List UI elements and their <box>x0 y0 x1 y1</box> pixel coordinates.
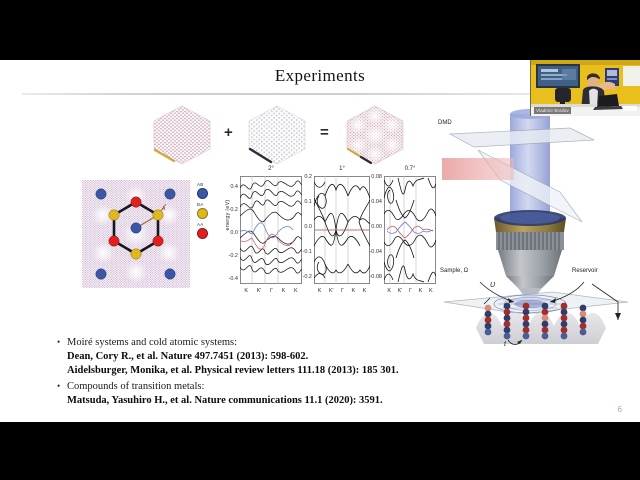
legend-label-ab: AB <box>197 182 203 187</box>
reference-line: Dean, Cory R., et al. Nature 497.7451 (2… <box>56 350 526 364</box>
xtick-0: K <box>387 288 391 294</box>
webcam-video-tile[interactable]: Vladimir Brailov <box>530 60 640 116</box>
legend-label-aa: AA <box>197 222 203 227</box>
xtick-2: Γ <box>341 288 344 294</box>
moire-lattice-panel: A AB BA AA <box>62 172 222 297</box>
band-plot-1deg-title: 1° <box>314 166 370 172</box>
moire-superlattice-result <box>341 104 409 166</box>
band-plot-0p7deg: 0.7° 0.08 0.04 0.00 -0.04 -0.08 <box>384 166 436 298</box>
bullet-list: Moiré systems and cold atomic systems: D… <box>56 336 526 410</box>
participant-name-label: Vladimir Brailov <box>534 107 571 114</box>
xtick-0: K <box>318 288 322 294</box>
title-divider <box>22 93 597 95</box>
moire-lattice-diagram: A <box>82 180 190 288</box>
letterbox-bottom <box>0 422 640 480</box>
band-ytick-2: 0.00 <box>360 224 382 230</box>
legend-label-ba: BA <box>197 202 203 207</box>
band-plot-0p7deg-title: 0.7° <box>384 166 436 172</box>
xtick-0: K <box>244 288 248 294</box>
figure-area: + <box>0 104 640 326</box>
xtick-1: K' <box>257 288 262 294</box>
xtick-2: Γ <box>270 288 273 294</box>
band-plot-1deg-xticks: K K' Γ K K <box>314 288 370 294</box>
band-plot-0p7deg-curves <box>384 176 436 284</box>
band-ytick-0: 0.2 <box>294 174 312 180</box>
legend-swatch-aa <box>197 228 208 239</box>
hexagon-lattice-layer-2 <box>243 104 311 166</box>
bullet-group-1: Compounds of transition metals: Matsuda,… <box>56 380 526 408</box>
legend-swatch-ab <box>197 188 208 199</box>
slide-number: 6 <box>618 405 622 414</box>
band-plot-1deg-curves <box>314 176 370 284</box>
bullet-heading-0: Moiré systems and cold atomic systems: <box>56 336 526 350</box>
band-ytick-0: 0.08 <box>360 174 382 180</box>
u-label: U <box>490 282 495 289</box>
xtick-4: K <box>363 288 367 294</box>
band-ytick-3: -0.2 <box>218 253 238 259</box>
reference-line: Aidelsburger, Monika, et al. Physical re… <box>56 364 526 378</box>
band-plot-2deg: 2° 0.4 0.2 0.0 -0.2 -0.4 <box>240 166 302 298</box>
xtick-1: K' <box>398 288 403 294</box>
xtick-2: Γ <box>409 288 412 294</box>
band-plot-0p7deg-xticks: K K' Γ K K <box>384 288 436 294</box>
band-ytick-0: 0.4 <box>218 184 238 190</box>
band-ytick-2: 0.0 <box>218 230 238 236</box>
reference-line: Matsuda, Yasuhiro H., et al. Nature comm… <box>56 394 526 408</box>
band-plot-2deg-curves <box>240 176 302 284</box>
band-ytick-1: 0.04 <box>360 199 382 205</box>
band-ytick-4: -0.4 <box>218 276 238 282</box>
letterbox-top <box>0 0 640 60</box>
dmd-label: DMD <box>438 120 452 126</box>
band-ytick-2: 0.0 <box>294 224 312 230</box>
sample-label: Sample, Ω <box>440 268 468 274</box>
reservoir-label: Reservoir <box>572 268 598 274</box>
bullet-group-0: Moiré systems and cold atomic systems: D… <box>56 336 526 378</box>
band-ytick-3: -0.04 <box>360 249 382 255</box>
band-structure-panel: energy (eV) 2° 0.4 0.2 0.0 -0.2 -0.4 <box>218 166 436 298</box>
equals-sign: = <box>320 124 329 141</box>
band-plot-2deg-title: 2° <box>240 166 302 172</box>
video-frame: Experiments <box>0 0 640 480</box>
band-ytick-4: -0.2 <box>294 274 312 280</box>
xtick-1: K' <box>329 288 334 294</box>
xtick-3: K <box>282 288 286 294</box>
band-ytick-1: 0.2 <box>218 207 238 213</box>
xtick-3: K <box>351 288 355 294</box>
band-ytick-3: -0.1 <box>294 249 312 255</box>
hexagon-lattice-layer-1 <box>148 104 216 166</box>
band-plot-2deg-xticks: K K' Γ K K <box>240 288 302 294</box>
band-ytick-1: 0.1 <box>294 199 312 205</box>
band-ytick-4: -0.08 <box>360 274 382 280</box>
xtick-3: K <box>419 288 423 294</box>
xtick-4: K <box>294 288 298 294</box>
legend-swatch-ba <box>197 208 208 219</box>
plus-sign: + <box>224 124 233 141</box>
moire-construction-row: + <box>148 104 413 166</box>
bullet-heading-1: Compounds of transition metals: <box>56 380 526 394</box>
